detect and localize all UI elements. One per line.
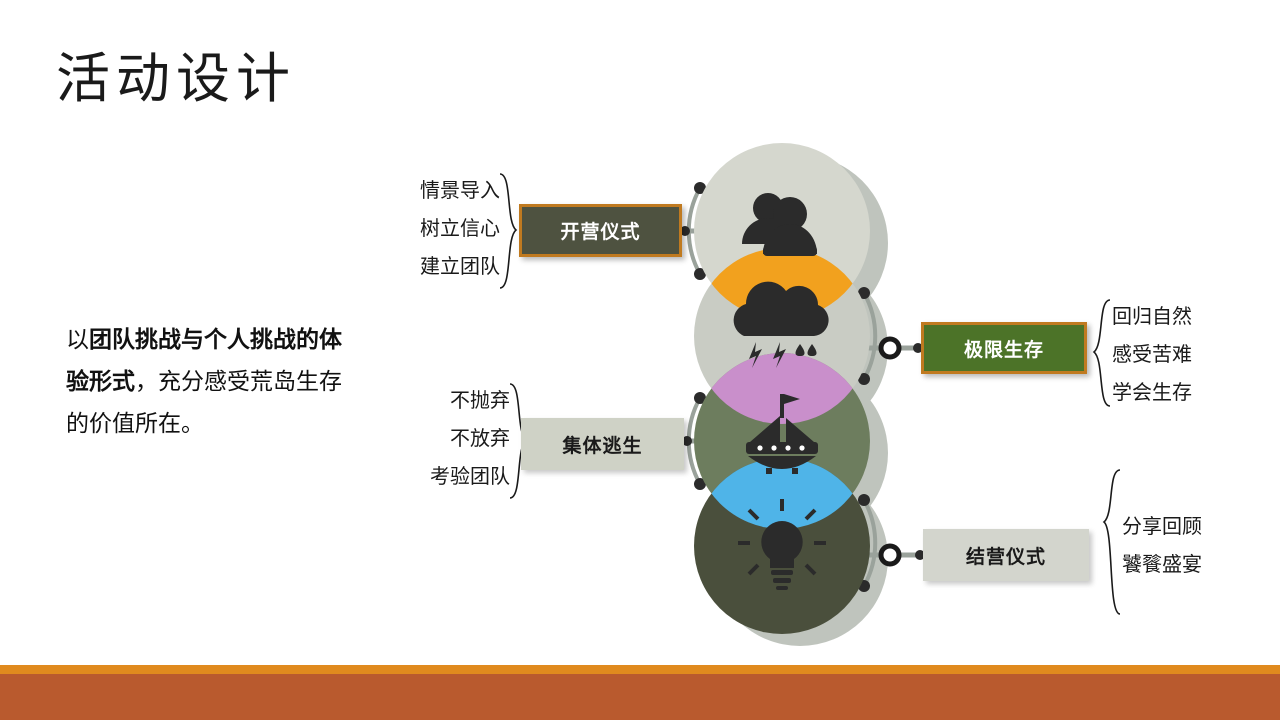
bullet-item: 饕餮盛宴 xyxy=(1122,546,1224,584)
bullet-group-4: 分享回顾 饕餮盛宴 xyxy=(1122,508,1224,584)
footer-band xyxy=(0,674,1280,720)
bullet-item: 情景导入 xyxy=(398,172,500,210)
bullet-item: 不抛弃 xyxy=(408,382,510,420)
stage-label-box-1[interactable]: 开营仪式 xyxy=(519,204,682,257)
bullet-item: 不放弃 xyxy=(408,420,510,458)
bullet-item: 分享回顾 xyxy=(1122,508,1224,546)
bullet-item: 回归自然 xyxy=(1112,298,1214,336)
slide-canvas: 活动设计 以团队挑战与个人挑战的体验形式，充分感受荒岛生存的价值所在。 xyxy=(0,0,1280,720)
bullet-item: 树立信心 xyxy=(398,210,500,248)
brace-4 xyxy=(1104,470,1120,614)
bullet-item: 学会生存 xyxy=(1112,374,1214,412)
brace-1 xyxy=(500,174,516,288)
bullet-item: 建立团队 xyxy=(398,248,500,286)
bullet-group-3: 不抛弃 不放弃 考验团队 xyxy=(408,382,510,496)
stage-label-box-2[interactable]: 极限生存 xyxy=(921,322,1087,374)
diagram-svg xyxy=(0,0,1280,720)
bullet-item: 考验团队 xyxy=(408,458,510,496)
stage-label-box-4[interactable]: 结营仪式 xyxy=(923,529,1089,581)
bullet-item: 感受苦难 xyxy=(1112,336,1214,374)
stage-label-box-3[interactable]: 集体逃生 xyxy=(521,418,684,470)
brace-3 xyxy=(1094,300,1110,406)
process-diagram: 开营仪式 极限生存 集体逃生 结营仪式 情景导入 树立信心 建立团队 不抛弃 不… xyxy=(0,0,1280,720)
bullet-group-1: 情景导入 树立信心 建立团队 xyxy=(398,172,500,286)
footer-accent-stripe xyxy=(0,665,1280,674)
bullet-group-2: 回归自然 感受苦难 学会生存 xyxy=(1112,298,1214,412)
